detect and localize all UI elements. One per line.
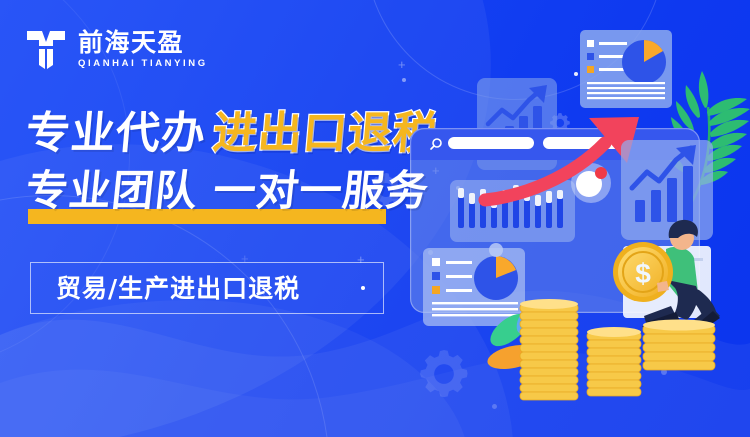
tianying-y-mark-icon <box>25 28 67 72</box>
headline-line-2: 专业团队 一对一服务 <box>24 170 390 212</box>
headline-line-2-wrap: 专业团队 一对一服务 <box>26 170 388 212</box>
subtitle-text: 贸易/生产进出口退税 <box>56 276 300 301</box>
coin-stack-step <box>643 320 715 371</box>
brand-name-en: QIANHAI TIANYING <box>78 59 208 69</box>
brand-logo[interactable]: 前海天盈 QIANHAI TIANYING <box>25 28 208 72</box>
headline-line-1: 专业代办 进出口退税 <box>24 112 428 156</box>
svg-text:$: $ <box>635 258 651 289</box>
pie-report-card-bottom <box>423 248 525 326</box>
coin-stack-tall <box>520 299 578 400</box>
hero-illustration: $ <box>395 0 750 437</box>
brand-name-cn: 前海天盈 <box>78 31 208 56</box>
promo-banner: + + + + + 前海天盈 QIANHAI TIANYING 专业代办 进出口… <box>0 0 750 437</box>
headline-line-1-white: 专业代办 <box>24 112 208 156</box>
subtitle-box: 贸易/生产进出口退税 <box>30 262 384 314</box>
coin-stack-short <box>587 327 641 396</box>
card-handle-dot <box>489 243 503 257</box>
headline-block: 专业代办 进出口退税 专业团队 一对一服务 <box>26 112 426 212</box>
subtitle-dot-icon <box>361 286 365 290</box>
pie-report-card-top <box>580 30 672 108</box>
bar-chart-card-right <box>621 140 713 240</box>
